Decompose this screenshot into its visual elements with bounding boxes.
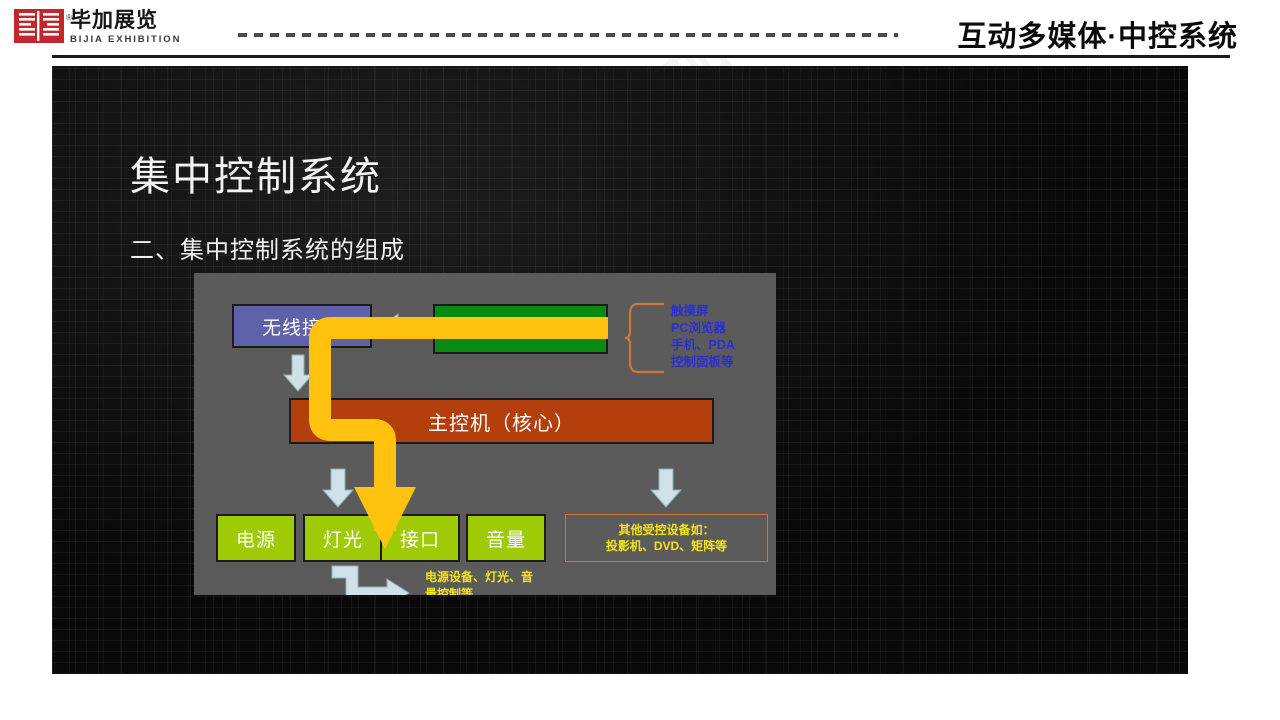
header-title: 互动多媒体·中控系统 — [957, 13, 1238, 55]
node-other-devices-line2: 投影机、DVD、矩阵等 — [606, 538, 727, 554]
node-wireless-receiver-label: 无线接收 — [262, 313, 342, 340]
registered-trademark-icon: ® — [66, 13, 72, 22]
slide-body: 集中控制系统 二、集中控制系统的组成 — [52, 66, 1188, 674]
node-touch-control[interactable]: 触摸控制部分 — [433, 304, 608, 354]
curly-brace-icon — [624, 302, 666, 374]
input-device-item: 手机、PDA — [671, 337, 735, 354]
input-device-item: PC浏览器 — [671, 320, 735, 337]
node-other-controlled-devices[interactable]: 其他受控设备如： 投影机、DVD、矩阵等 — [565, 514, 768, 562]
node-main-controller[interactable]: 主控机（核心） — [289, 398, 714, 444]
arrow-down-wireless-to-host — [284, 355, 312, 391]
header-dashed-rule — [238, 33, 898, 37]
arrow-down-host-to-other — [651, 469, 681, 507]
brand-name-cn: 毕加展览 — [70, 10, 181, 32]
arrow-left-touch-to-wireless — [382, 314, 426, 338]
arrow-down-host-to-light — [323, 469, 353, 507]
page-title: 集中控制系统 — [130, 144, 382, 202]
arrow-elbow-to-bottom-caption — [332, 566, 409, 595]
node-wireless-receiver[interactable]: 无线接收 — [232, 304, 372, 348]
node-interface-label: 接口 — [400, 525, 440, 552]
bottom-caption: 电源设备、灯光、音 量控制等 — [425, 569, 533, 595]
node-main-controller-label: 主控机（核心） — [428, 407, 575, 436]
bottom-caption-line1: 电源设备、灯光、音 — [425, 569, 533, 586]
node-lighting-label: 灯光 — [323, 525, 363, 552]
node-power[interactable]: 电源 — [216, 514, 296, 562]
page-header: ® 毕加展览 BIJIA EXHIBITION 互动多媒体·中控系统 — [0, 0, 1280, 56]
system-architecture-diagram: 无线接收 触摸控制部分 主控机（核心） 电源 灯光 接口 音量 其他受控设备如： — [194, 273, 776, 595]
node-other-devices-line1: 其他受控设备如： — [618, 522, 714, 538]
node-lighting[interactable]: 灯光 — [303, 514, 383, 562]
node-touch-control-label: 触摸控制部分 — [460, 316, 580, 343]
page-subtitle: 二、集中控制系统的组成 — [130, 230, 405, 265]
input-device-item: 控制面板等 — [671, 354, 735, 371]
bottom-caption-line2: 量控制等 — [425, 586, 533, 595]
brand-name-en: BIJIA EXHIBITION — [70, 34, 181, 46]
header-solid-rule — [52, 55, 1230, 58]
brand-logo[interactable]: ® 毕加展览 BIJIA EXHIBITION — [14, 9, 181, 46]
input-device-item: 触摸屏 — [671, 303, 735, 320]
node-volume-label: 音量 — [486, 525, 526, 552]
input-device-list: 触摸屏 PC浏览器 手机、PDA 控制面板等 — [671, 303, 735, 371]
brand-name-block: 毕加展览 BIJIA EXHIBITION — [70, 9, 181, 46]
node-volume[interactable]: 音量 — [466, 514, 546, 562]
node-interface[interactable]: 接口 — [380, 514, 460, 562]
node-power-label: 电源 — [236, 525, 276, 552]
slide-page: 毕加 — [0, 0, 1280, 720]
bijia-logo-mark-icon: ® — [14, 9, 64, 43]
